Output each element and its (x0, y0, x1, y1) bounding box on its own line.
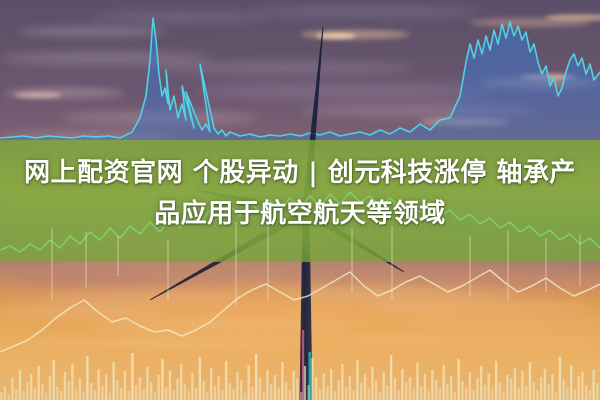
headline-line-2: 品应用于航空航天等领域 (0, 194, 600, 235)
volume-histogram (0, 353, 599, 400)
watermark: ◊ (590, 387, 593, 395)
banner-image: 网上配资官网 个股异动 | 创元科技涨停 轴承产 品应用于航空航天等领域 ◊ (0, 0, 600, 400)
headline-text: 网上配资官网 个股异动 | 创元科技涨停 轴承产 品应用于航空航天等领域 (0, 153, 600, 235)
pale-lower-line (0, 270, 600, 352)
headline-line-1: 网上配资官网 个股异动 | 创元科技涨停 轴承产 (0, 153, 600, 194)
